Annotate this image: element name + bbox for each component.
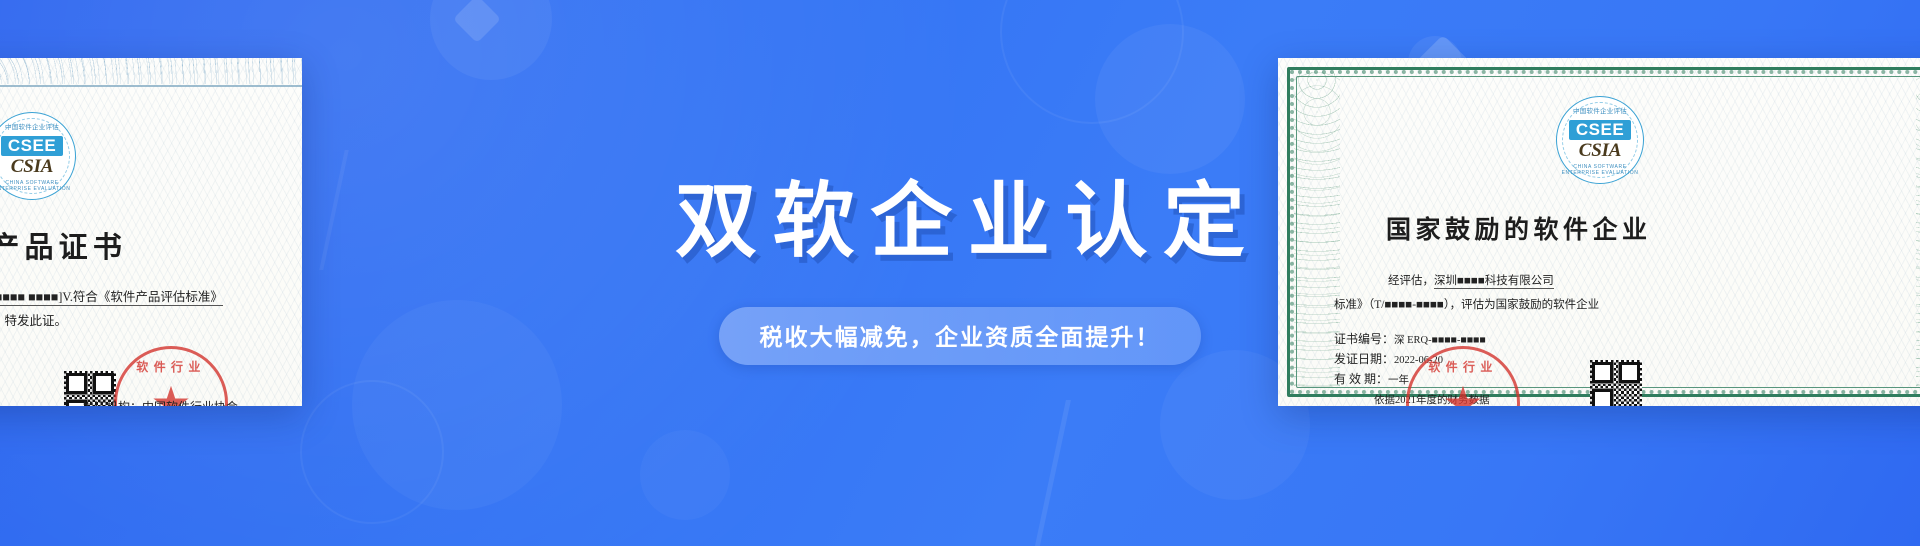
status-badge: 税收大幅减免，企业资质全面提升！ [719,307,1200,365]
banner-root: 中国软件企业评估 CSEE CSIA CHINA SOFTWARE ENTERP… [0,0,1920,546]
banner-center-content: 双软企业认定 税收大幅减免，企业资质全面提升！ [0,0,1920,546]
page-title: 双软企业认定 [659,181,1260,263]
